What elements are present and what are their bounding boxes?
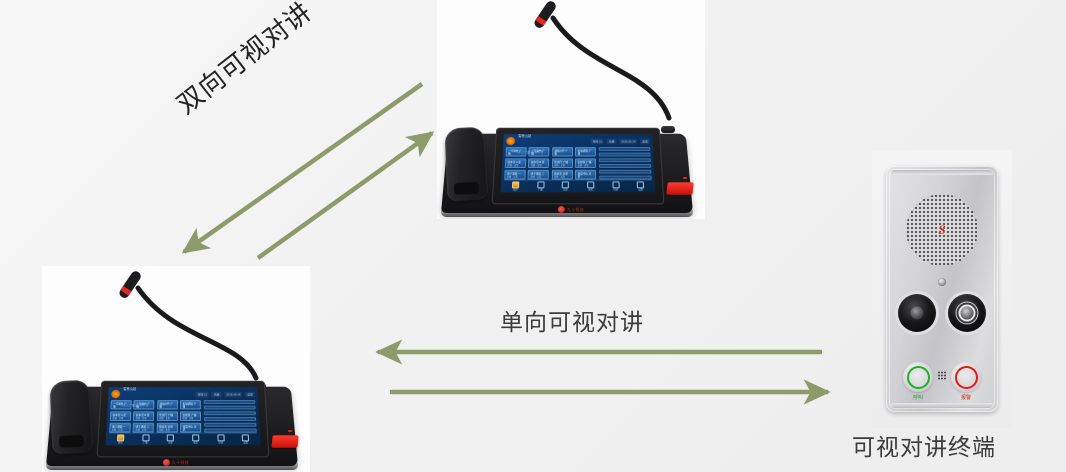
status-led: [683, 177, 687, 179]
status-chip: 在线 12: [196, 391, 209, 397]
zone-tile[interactable]: 二号站台 广播在线 · 正常: [134, 400, 155, 409]
terminal-photo: S 呼叫 报警: [872, 150, 1012, 428]
side-list-item[interactable]: 分区 01 站台: [204, 400, 256, 404]
console-brand: 九十科技: [558, 206, 584, 213]
ir-sensor-inner: [961, 307, 974, 320]
app-logo-icon: [111, 390, 120, 398]
alarm-button-ring: [955, 366, 978, 389]
status-chip: 音量: [607, 138, 617, 144]
gear-icon: [242, 434, 249, 441]
side-list-item[interactable]: 分区 02 大厅: [599, 153, 651, 157]
zone-tile[interactable]: 一号站台 广播在线 · 正常: [505, 147, 526, 156]
zone-tile[interactable]: 一号站台 广播在线 · 正常: [110, 400, 131, 409]
toolbar-item-intercom[interactable]: 对讲: [554, 181, 577, 192]
brand-s-logo-icon: S: [938, 222, 945, 238]
zone-tile[interactable]: 候车室 A 区在线 · 正常: [110, 411, 131, 420]
side-list-item[interactable]: 分区 03 通道: [599, 158, 651, 162]
zone-tile[interactable]: 进站大厅 广播在线 · 正常: [552, 147, 573, 156]
console-device-bottom: 智慧山站 综合广播管理平台 在线 12 音量 2025-05-14 设置 一号站…: [42, 266, 310, 472]
call-button-ring: [907, 366, 930, 389]
broadcast-icon: [537, 181, 544, 188]
panel-bottom-strip: [891, 403, 993, 408]
console-photo-bottom: 智慧山站 综合广播管理平台 在线 12 音量 2025-05-14 设置 一号站…: [42, 266, 310, 472]
toolbar-item-intercom[interactable]: 对讲: [159, 434, 182, 445]
log-icon: [217, 434, 224, 441]
screen-toolbar: 首页 广播 对讲 录音 记录 设置: [504, 179, 653, 191]
zone-tile[interactable]: 安检区 广播在线 · 正常: [180, 411, 201, 420]
zone-tile[interactable]: 候车室 A 区在线 · 正常: [505, 158, 526, 167]
zone-tile[interactable]: 售票厅 广播在线 · 正常: [157, 411, 178, 420]
zone-side-list: 分区 01 站台 分区 02 大厅 分区 03 通道 分区 04 售票 分区 0…: [599, 147, 652, 179]
toolbar-item-broadcast[interactable]: 广播: [529, 181, 552, 192]
zone-tile[interactable]: 地下通道 一在线 · 正常: [109, 423, 130, 432]
console-brand: 九十科技: [163, 459, 189, 466]
arrow-bidirectional-downleft: [184, 84, 422, 252]
lens-row: [886, 294, 998, 332]
alarm-button-label: 报警: [961, 394, 971, 401]
emergency-button[interactable]: [271, 435, 298, 447]
home-icon: [117, 434, 124, 441]
intercom-terminal: S 呼叫 报警: [886, 166, 998, 412]
screen-toolbar: 首页 广播 对讲 录音 记录 设置: [109, 432, 258, 444]
mic-connector: [661, 126, 675, 133]
zone-tile[interactable]: 地下通道 二在线 · 正常: [528, 170, 549, 179]
toolbar-item-settings[interactable]: 设置: [629, 181, 653, 192]
console-screen-bezel: 智慧山站 综合广播管理平台 在线 12 音量 2025-05-14 设置 一号站…: [492, 128, 665, 205]
side-list-item[interactable]: 分区 02 大厅: [204, 406, 256, 410]
broadcast-icon: [142, 434, 149, 441]
arrow-bidirectional-upright: [258, 133, 432, 258]
zone-tile[interactable]: 值班室 对讲在线 · 正常: [156, 423, 177, 432]
zone-tile[interactable]: 地下通道 一在线 · 正常: [504, 170, 525, 179]
zone-tile[interactable]: 候车室 B 区在线 · 正常: [528, 158, 549, 167]
zone-side-list: 分区 01 站台 分区 02 大厅 分区 03 通道 分区 04 售票 分区 0…: [204, 400, 257, 432]
camera-lens: [898, 294, 936, 332]
record-icon: [587, 181, 594, 188]
toolbar-item-home[interactable]: 首页: [109, 434, 132, 445]
label-terminal-caption: 可视对讲终端: [852, 428, 996, 462]
log-icon: [612, 181, 619, 188]
status-chip: 在线 12: [591, 138, 604, 144]
intercom-icon: [562, 181, 569, 188]
zone-tile[interactable]: 出站通道 广播在线 · 正常: [575, 147, 596, 156]
call-button-label: 呼叫: [913, 394, 923, 401]
label-unidirectional-intercom: 单向可视对讲: [500, 303, 644, 337]
console-screen-bezel: 智慧山站 综合广播管理平台 在线 12 音量 2025-05-14 设置 一号站…: [97, 381, 270, 458]
status-chip[interactable]: 设置: [640, 138, 650, 144]
console-touchscreen[interactable]: 智慧山站 综合广播管理平台 在线 12 音量 2025-05-14 设置 一号站…: [500, 134, 655, 192]
toolbar-item-recording[interactable]: 录音: [579, 181, 602, 192]
toolbar-item-recording[interactable]: 录音: [184, 434, 207, 445]
mic-hole-array: [938, 371, 947, 380]
screen-header: 智慧山站 综合广播管理平台 在线 12 音量 2025-05-14 设置: [111, 389, 255, 399]
alarm-button[interactable]: 报警: [951, 362, 981, 392]
status-chip: 音量: [212, 391, 222, 397]
console-touchscreen[interactable]: 智慧山站 综合广播管理平台 在线 12 音量 2025-05-14 设置 一号站…: [105, 387, 260, 445]
zone-tile[interactable]: 值班室 对讲在线 · 正常: [551, 170, 572, 179]
screen-status-chips: 在线 12 音量 2025-05-14 设置: [196, 391, 255, 397]
side-list-item[interactable]: 分区 01 站台: [599, 147, 651, 151]
screen-body: 一号站台 广播在线 · 正常 二号站台 广播在线 · 正常 进站大厅 广播在线 …: [109, 400, 257, 432]
home-icon: [512, 181, 519, 188]
intercom-icon: [167, 434, 174, 441]
side-list-item[interactable]: 分区 05 安检: [204, 423, 256, 427]
toolbar-item-broadcast[interactable]: 广播: [134, 434, 157, 445]
microphone-icon: [938, 278, 946, 286]
toolbar-item-logs[interactable]: 记录: [209, 434, 232, 445]
side-list-item[interactable]: 分区 04 售票: [599, 164, 651, 168]
side-list-item[interactable]: 分区 05 安检: [599, 170, 651, 174]
panel-top-strip: [891, 170, 993, 175]
console-handset[interactable]: [445, 127, 489, 202]
toolbar-item-settings[interactable]: 设置: [234, 434, 258, 445]
zone-tile[interactable]: 地下通道 二在线 · 正常: [133, 423, 154, 432]
zone-tile[interactable]: 候车室 B 区在线 · 正常: [133, 411, 154, 420]
zone-tile[interactable]: 安检区 广播在线 · 正常: [575, 158, 596, 167]
zone-tile[interactable]: 调度中心 对讲在线 · 正常: [180, 423, 201, 432]
toolbar-item-home[interactable]: 首页: [504, 181, 527, 192]
zone-tile[interactable]: 进站大厅 广播在线 · 正常: [157, 400, 178, 409]
status-chip: 2025-05-14: [224, 391, 242, 397]
zone-tile[interactable]: 售票厅 广播在线 · 正常: [552, 158, 573, 167]
console-photo-top: 智慧山站 综合广播管理平台 在线 12 音量 2025-05-14 设置 一号站…: [437, 0, 705, 219]
diagram-canvas: 智慧山站 综合广播管理平台 在线 12 音量 2025-05-14 设置 一号站…: [0, 0, 1066, 472]
status-chip: 2025-05-14: [619, 138, 637, 144]
status-chip[interactable]: 设置: [245, 391, 255, 397]
speaker-grille: S: [906, 194, 978, 266]
toolbar-item-logs[interactable]: 记录: [604, 181, 627, 192]
emergency-button[interactable]: [666, 182, 693, 194]
status-led: [288, 430, 292, 432]
record-icon: [192, 434, 199, 441]
label-bidirectional-intercom: 双向可视对讲: [168, 0, 318, 121]
side-list-item[interactable]: 分区 04 售票: [204, 417, 256, 421]
brand-logo-icon: [163, 459, 170, 466]
screen-body: 一号站台 广播在线 · 正常 二号站台 广播在线 · 正常 进站大厅 广播在线 …: [504, 147, 652, 179]
zone-tile[interactable]: 出站通道 广播在线 · 正常: [180, 400, 201, 409]
brand-logo-icon: [558, 206, 565, 213]
gear-icon: [637, 181, 644, 188]
zone-tile[interactable]: 二号站台 广播在线 · 正常: [529, 147, 550, 156]
zone-tile-grid: 一号站台 广播在线 · 正常 二号站台 广播在线 · 正常 进站大厅 广播在线 …: [504, 147, 596, 179]
camera-lens-inner: [911, 307, 924, 320]
zone-tile-grid: 一号站台 广播在线 · 正常 二号站台 广播在线 · 正常 进站大厅 广播在线 …: [109, 400, 201, 432]
screen-status-chips: 在线 12 音量 2025-05-14 设置: [591, 138, 650, 144]
screen-header: 智慧山站 综合广播管理平台 在线 12 音量 2025-05-14 设置: [506, 136, 650, 146]
app-logo-icon: [506, 137, 515, 145]
call-button[interactable]: 呼叫: [903, 362, 933, 392]
console-handset[interactable]: [50, 380, 94, 455]
console-device-top: 智慧山站 综合广播管理平台 在线 12 音量 2025-05-14 设置 一号站…: [437, 0, 705, 219]
ir-sensor-lens: [948, 294, 986, 332]
side-list-item[interactable]: 分区 03 通道: [204, 411, 256, 415]
zone-tile[interactable]: 调度中心 对讲在线 · 正常: [575, 170, 596, 179]
